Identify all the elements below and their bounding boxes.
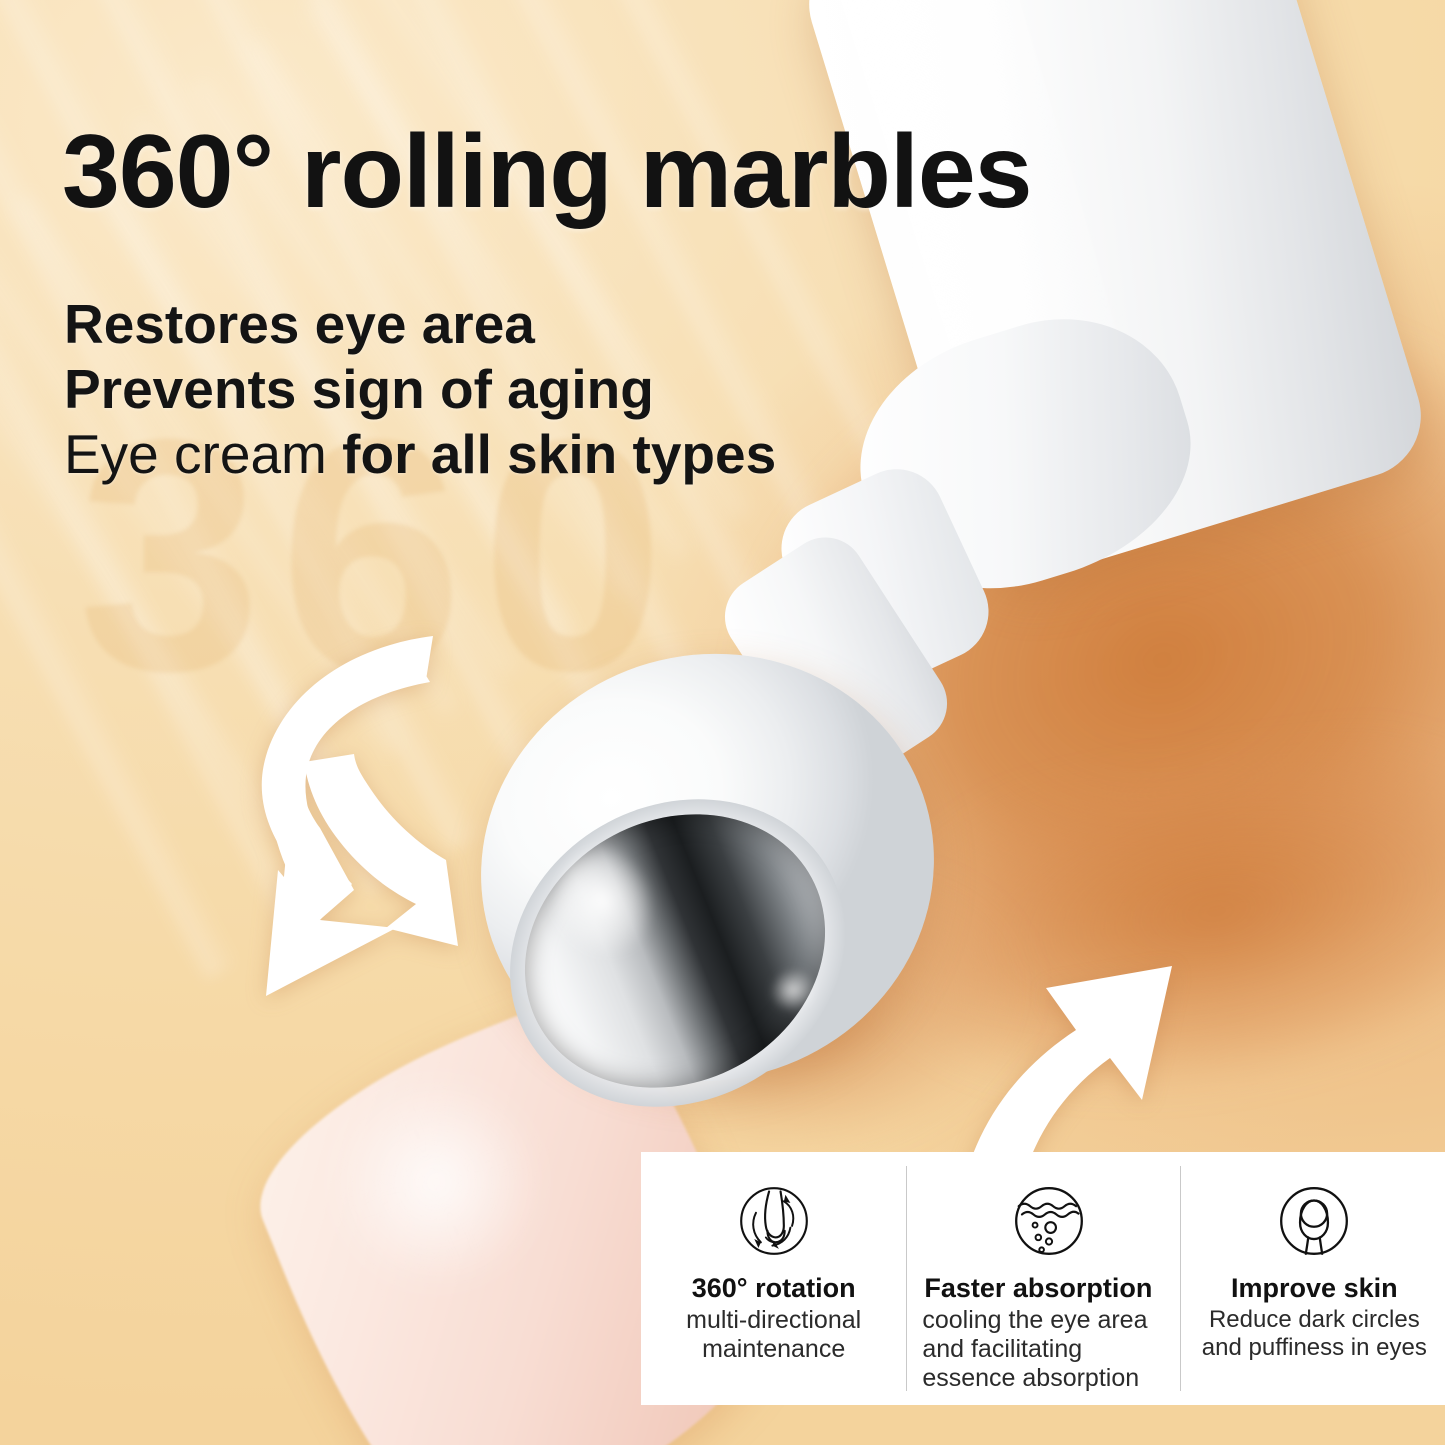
feature-body-rotation: multi-directional maintenance	[686, 1306, 861, 1364]
rotation-arrow-left-icon	[258, 628, 528, 1028]
subheadline-line-2: Prevents sign of aging	[64, 357, 776, 422]
feature-column-absorption: Faster absorption cooling the eye area a…	[906, 1152, 1179, 1405]
feature-panel: 360° rotation multi-directional maintena…	[641, 1152, 1445, 1405]
subheadline-line-1: Restores eye area	[64, 292, 776, 357]
feature-body-absorption: cooling the eye area and facilitating es…	[922, 1306, 1175, 1393]
feature-title-absorption: Faster absorption	[924, 1274, 1152, 1304]
feature-title-rotation: 360° rotation	[692, 1274, 856, 1304]
feature-column-improve-skin: Improve skin Reduce dark circles and puf…	[1180, 1152, 1445, 1405]
subheadline-block: Restores eye area Prevents sign of aging…	[64, 292, 776, 487]
water-bubbles-icon	[1008, 1174, 1090, 1268]
subheadline-line-3: Eye cream for all skin types	[64, 422, 776, 487]
subheadline-line-3-bold: for all skin types	[342, 423, 776, 485]
roller-ball-icon	[1273, 1174, 1355, 1268]
rotation-roller-icon	[733, 1174, 815, 1268]
subheadline-line-3-light: Eye cream	[64, 423, 342, 485]
feature-body-improve-skin: Reduce dark circles and puffiness in eye…	[1202, 1306, 1427, 1362]
feature-title-improve-skin: Improve skin	[1231, 1274, 1398, 1304]
feature-column-rotation: 360° rotation multi-directional maintena…	[641, 1152, 906, 1405]
product-poster: 360 360° rolling marbles Restores eye ar…	[0, 0, 1445, 1445]
page-title: 360° rolling marbles	[62, 120, 1032, 224]
